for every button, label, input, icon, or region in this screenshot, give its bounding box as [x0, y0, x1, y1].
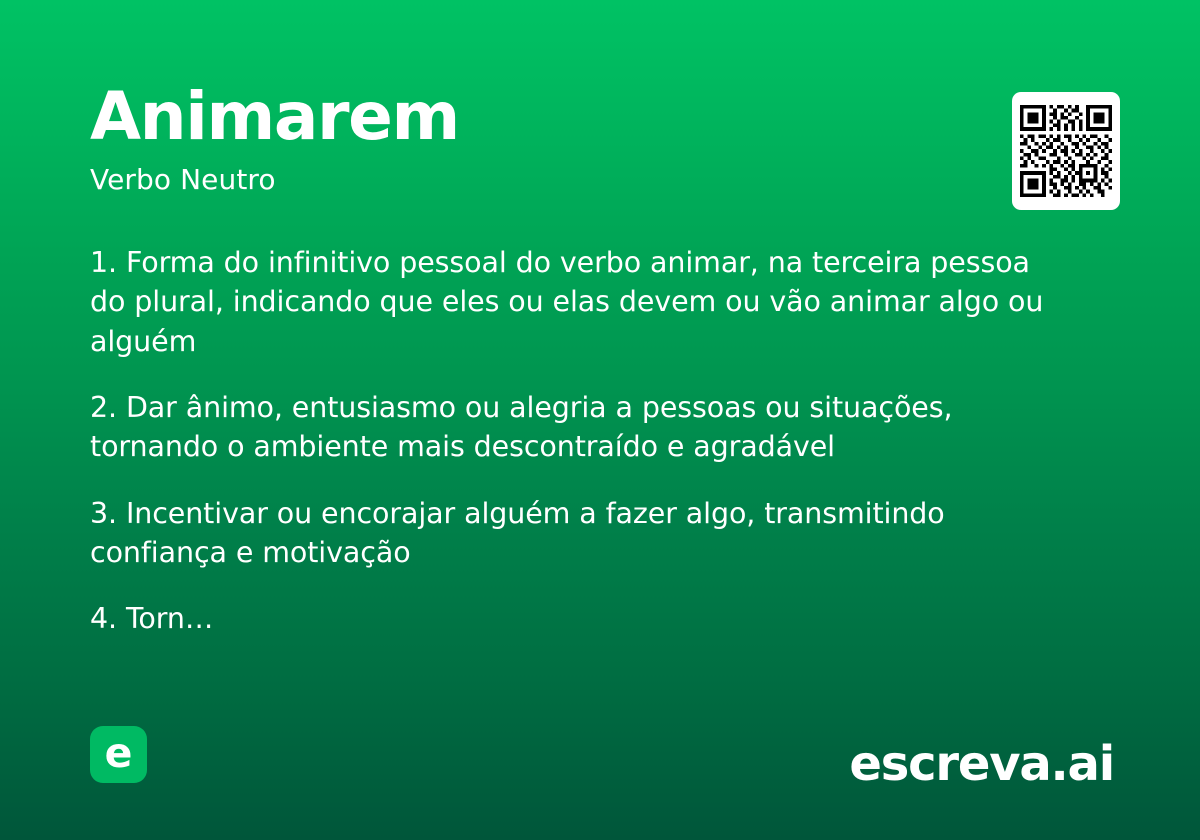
definition-item: 4. Torn… — [90, 599, 1050, 638]
page-title: Animarem — [90, 84, 1110, 150]
definition-item: 2. Dar ânimo, entusiasmo ou alegria a pe… — [90, 388, 1050, 467]
logo-letter: e — [105, 733, 133, 774]
word-definition-card: Animarem Verbo Neutro — [0, 0, 1200, 840]
escreva-logo-badge: e — [90, 726, 147, 783]
word-class-label: Verbo Neutro — [90, 150, 1110, 194]
definition-list: 1. Forma do infinitivo pessoal do verbo … — [90, 243, 1050, 639]
qr-code-card[interactable] — [1012, 92, 1120, 210]
definition-item: 3. Incentivar ou encorajar alguém a faze… — [90, 494, 1050, 573]
qr-code-icon — [1020, 105, 1112, 197]
brand-wordmark: escreva.ai — [849, 740, 1114, 788]
definition-item: 1. Forma do infinitivo pessoal do verbo … — [90, 243, 1050, 361]
card-header: Animarem Verbo Neutro — [90, 84, 1110, 194]
